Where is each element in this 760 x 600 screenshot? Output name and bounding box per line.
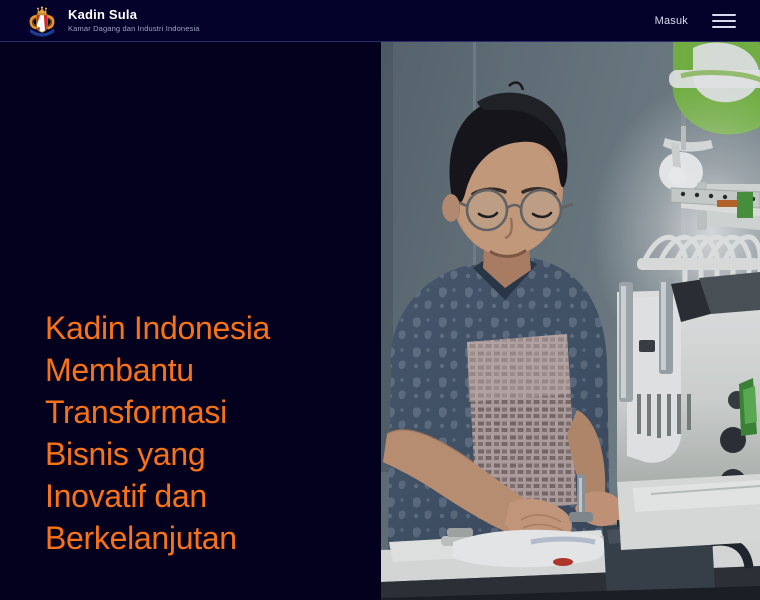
hamburger-bar-1 — [712, 14, 736, 16]
brand-title: Kadin Sula — [68, 8, 200, 23]
headline-line: Transformasi — [45, 391, 375, 433]
hero-copy-panel: Kadin Indonesia Membantu Transformasi Bi… — [0, 42, 381, 600]
headline-line: Membantu — [45, 349, 375, 391]
header-actions: Masuk — [655, 12, 760, 30]
login-link[interactable]: Masuk — [655, 15, 688, 27]
headline-line: Inovatif dan — [45, 475, 375, 517]
page-root: Kadin Sula Kamar Dagang dan Industri Ind… — [0, 0, 760, 600]
hero-headline: Kadin Indonesia Membantu Transformasi Bi… — [45, 307, 375, 559]
kadin-shield-crown-emblem-icon — [25, 5, 59, 37]
hero-section: Kadin Indonesia Membantu Transformasi Bi… — [0, 42, 760, 600]
brand-subtitle: Kamar Dagang dan Industri Indonesia — [68, 24, 200, 33]
hamburger-bar-3 — [712, 26, 736, 28]
hamburger-bar-2 — [712, 20, 736, 22]
brand-text-block: Kadin Sula Kamar Dagang dan Industri Ind… — [68, 8, 200, 34]
site-header: Kadin Sula Kamar Dagang dan Industri Ind… — [0, 0, 760, 42]
headline-line: Kadin Indonesia — [45, 307, 375, 349]
headline-line: Berkelanjutan — [45, 517, 375, 559]
headline-line: Bisnis yang — [45, 433, 375, 475]
worker-at-embroidery-machine-photo — [381, 42, 760, 600]
hamburger-menu-icon[interactable] — [712, 12, 736, 30]
brand-block[interactable]: Kadin Sula Kamar Dagang dan Industri Ind… — [0, 5, 200, 37]
